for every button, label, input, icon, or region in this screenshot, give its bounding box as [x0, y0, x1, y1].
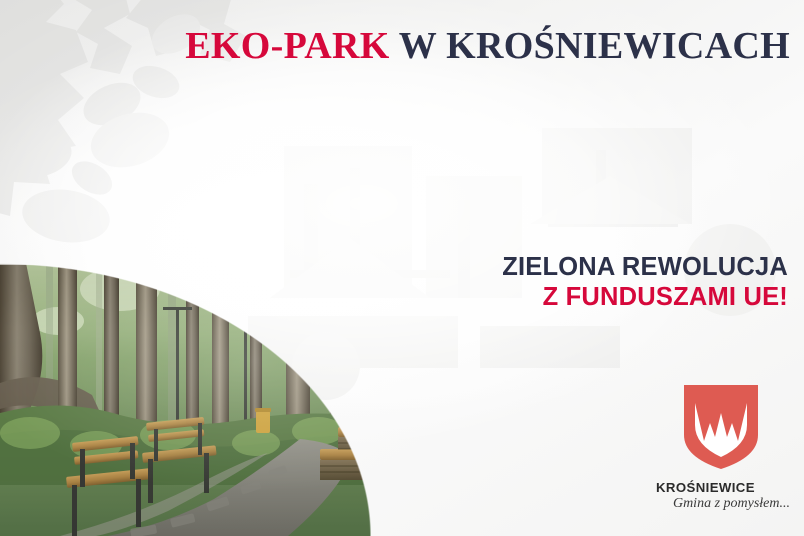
page-title-highlight: EKO-PARK — [185, 25, 389, 67]
park-photo — [0, 263, 548, 536]
poster-canvas: EKO-PARK W KROŚNIEWICACH ZIELONA REWOLUC… — [0, 0, 804, 536]
municipality-tagline: Gmina z pomysłem... — [648, 496, 794, 512]
park-photo-clip — [0, 263, 548, 536]
park-photo-top-highlight — [0, 263, 548, 265]
park-photo-scene — [0, 263, 548, 536]
municipality-logo: KROŚNIEWICE Gmina z pomysłem... — [648, 383, 794, 512]
municipality-name: KROŚNIEWICE — [648, 480, 794, 495]
page-title-rest: W KROŚNIEWICACH — [390, 25, 790, 67]
coat-of-arms-icon — [682, 383, 760, 471]
page-title: EKO-PARK W KROŚNIEWICACH — [0, 27, 790, 65]
